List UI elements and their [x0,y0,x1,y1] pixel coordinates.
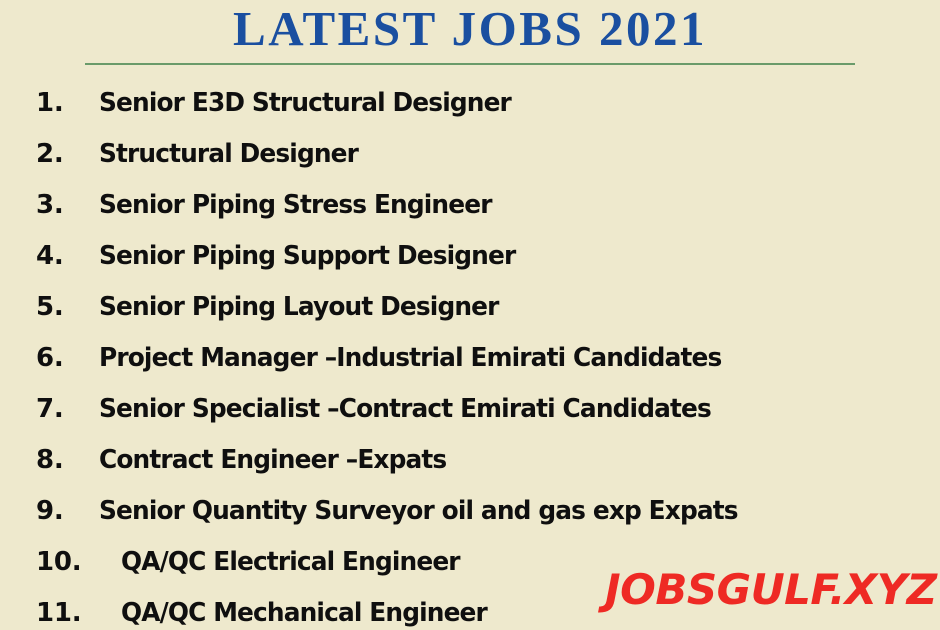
list-item: 8. Contract Engineer –Expats [0,435,940,486]
list-item-number: 4. [36,231,88,282]
list-item: 6. Project Manager –Industrial Emirati C… [0,333,940,384]
list-item-number: 8. [36,435,88,486]
list-item: 9. Senior Quantity Surveyor oil and gas … [0,486,940,537]
list-item-number: 6. [36,333,88,384]
list-item-number: 5. [36,282,88,333]
latest-jobs-poster: LATEST JOBS 2021 1. Senior E3D Structura… [0,0,940,630]
list-item-label: Contract Engineer –Expats [99,435,446,486]
list-item: 5. Senior Piping Layout Designer [0,282,940,333]
list-item-label: Senior Piping Support Designer [99,231,515,282]
site-watermark: JOBSGULF.XYZ [605,566,937,614]
list-item: 4. Senior Piping Support Designer [0,231,940,282]
title-divider [85,63,855,65]
list-item-label: Structural Designer [99,129,358,180]
list-item-number: 2. [36,129,88,180]
list-item-label: QA/QC Mechanical Engineer [121,588,487,630]
list-item-label: Project Manager –Industrial Emirati Cand… [99,333,721,384]
list-item-label: QA/QC Electrical Engineer [121,537,460,588]
job-list: 1. Senior E3D Structural Designer 2. Str… [0,78,940,630]
list-item: 2. Structural Designer [0,129,940,180]
list-item-label: Senior Piping Stress Engineer [99,180,492,231]
list-item-number: 10. [36,537,88,588]
list-item-number: 9. [36,486,88,537]
list-item-label: Senior Piping Layout Designer [99,282,499,333]
list-item-label: Senior Quantity Surveyor oil and gas exp… [99,486,738,537]
page-title: LATEST JOBS 2021 [0,2,940,56]
list-item: 7. Senior Specialist –Contract Emirati C… [0,384,940,435]
list-item: 1. Senior E3D Structural Designer [0,78,940,129]
list-item-label: Senior E3D Structural Designer [99,78,511,129]
list-item-number: 7. [36,384,88,435]
list-item: 3. Senior Piping Stress Engineer [0,180,940,231]
list-item-number: 11. [36,588,88,630]
list-item-label: Senior Specialist –Contract Emirati Cand… [99,384,711,435]
list-item-number: 3. [36,180,88,231]
poster-header: LATEST JOBS 2021 [0,0,940,70]
list-item-number: 1. [36,78,88,129]
